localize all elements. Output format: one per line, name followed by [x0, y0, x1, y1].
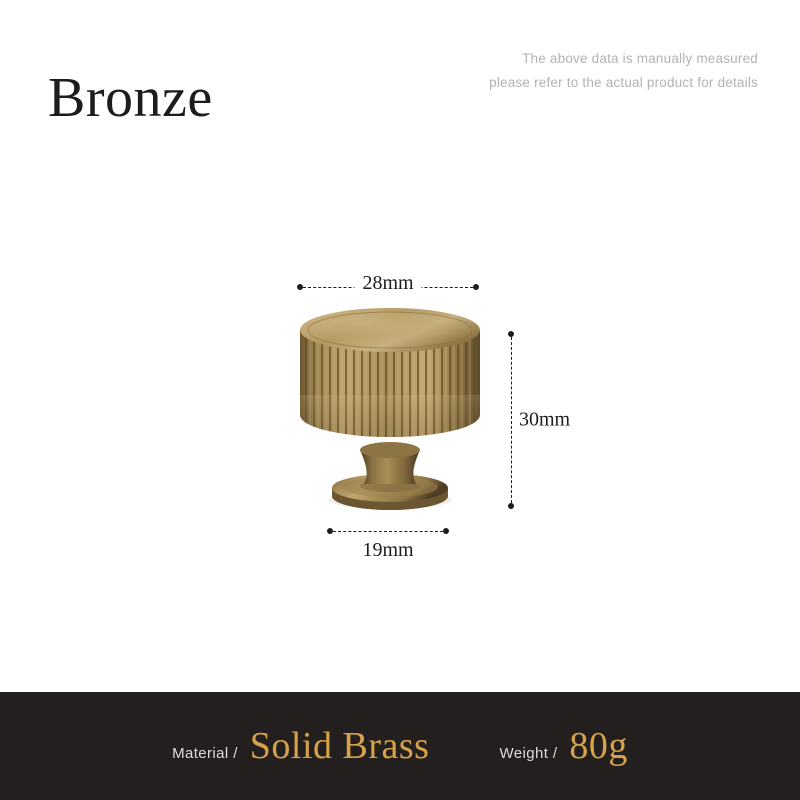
dimension-height-label: 30mm: [519, 405, 570, 436]
material-spec: Material / Solid Brass: [172, 724, 429, 768]
dimension-height: 30mm: [511, 331, 512, 509]
weight-spec: Weight / 80g: [499, 724, 627, 768]
spec-footer-bar: Material / Solid Brass Weight / 80g: [0, 692, 800, 800]
dimension-width-label: 28mm: [354, 272, 421, 295]
material-label: Material /: [172, 745, 238, 762]
dimension-width: 28mm: [297, 287, 479, 288]
disclaimer-line-1: The above data is manually measured: [489, 47, 758, 71]
weight-value: 80g: [569, 724, 628, 768]
disclaimer-line-2: please refer to the actual product for d…: [489, 71, 758, 95]
dimension-width-endpoint-right: [473, 284, 479, 290]
product-spec-page: Bronze The above data is manually measur…: [0, 0, 800, 800]
material-value: Solid Brass: [250, 724, 430, 768]
dimension-base: 19mm: [327, 531, 449, 532]
disclaimer-note: The above data is manually measured plea…: [489, 47, 758, 94]
dimension-height-endpoint-bottom: [508, 503, 514, 509]
dimension-base-endpoint-right: [443, 528, 449, 534]
brass-knob-image: [290, 300, 490, 515]
dimension-height-line: [511, 337, 512, 503]
dimension-base-label: 19mm: [362, 539, 413, 562]
weight-label: Weight /: [499, 745, 557, 762]
dimension-base-line: [333, 531, 443, 532]
page-title: Bronze: [48, 70, 213, 126]
